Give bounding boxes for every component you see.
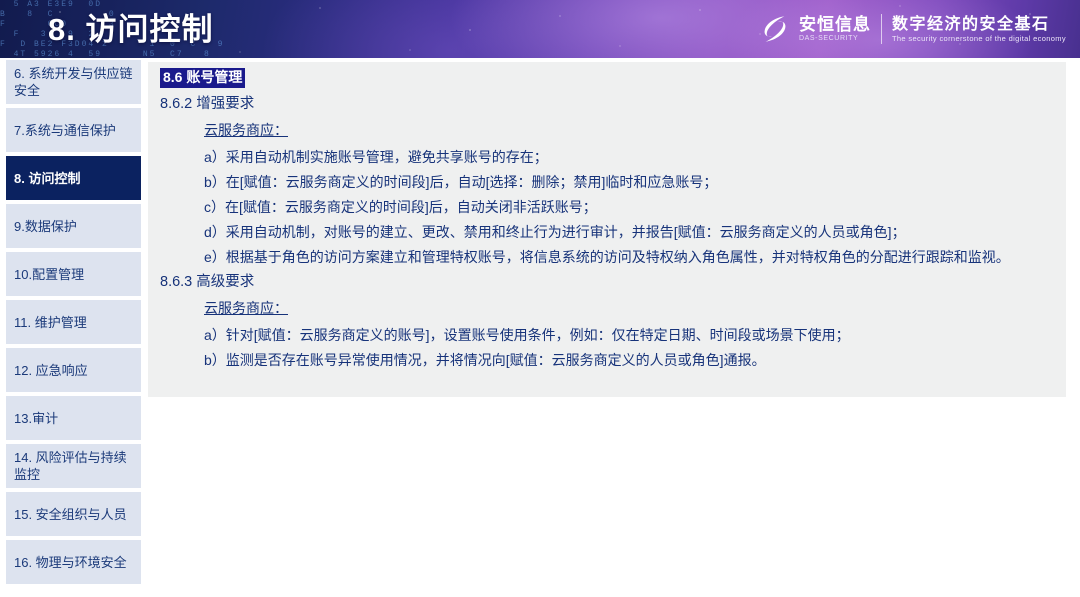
requirement-item: a）针对[赋值：云服务商定义的账号]，设置账号使用条件，例如：仅在特定日期、时间… bbox=[204, 325, 1050, 346]
sidebar-item-15[interactable]: 15. 安全组织与人员 bbox=[6, 492, 141, 536]
sidebar-item-label: 16. 物理与环境安全 bbox=[14, 554, 127, 571]
sidebar-item-16[interactable]: 16. 物理与环境安全 bbox=[6, 540, 141, 584]
sidebar-item-label: 9.数据保护 bbox=[14, 218, 77, 235]
sidebar-item-label: 14. 风险评估与持续监控 bbox=[14, 449, 133, 483]
brand-tagline: 数字经济的安全基石 The security cornerstone of th… bbox=[892, 15, 1066, 44]
sidebar-item-label: 7.系统与通信保护 bbox=[14, 122, 116, 139]
sidebar-item-label: 8. 访问控制 bbox=[14, 170, 80, 187]
sidebar-item-9[interactable]: 9.数据保护 bbox=[6, 204, 141, 248]
requirement-item: c）在[赋值：云服务商定义的时间段]后，自动关闭非活跃账号； bbox=[204, 197, 1020, 218]
section-heading: 8.6.3 高级要求 bbox=[160, 272, 1058, 292]
requirement-item: a）采用自动机制实施账号管理，避免共享账号的存在； bbox=[204, 147, 1020, 168]
section-lead: 云服务商应： bbox=[204, 120, 288, 140]
sidebar-item-7[interactable]: 7.系统与通信保护 bbox=[6, 108, 141, 152]
sidebar-item-label: 13.审计 bbox=[14, 410, 58, 427]
sidebar-nav[interactable]: 6. 系统开发与供应链安全7.系统与通信保护8. 访问控制9.数据保护10.配置… bbox=[6, 60, 141, 588]
section-lead-row: 云服务商应： bbox=[156, 295, 1058, 321]
sidebar-item-label: 12. 应急响应 bbox=[14, 362, 88, 379]
requirement-item: b）监测是否存在账号异常使用情况，并将情况向[赋值：云服务商定义的人员或角色]通… bbox=[204, 350, 1020, 371]
sidebar-item-label: 15. 安全组织与人员 bbox=[14, 506, 127, 523]
section-list: 8.6.2 增强要求云服务商应：a）采用自动机制实施账号管理，避免共享账号的存在… bbox=[156, 94, 1058, 371]
section-lead-row: 云服务商应： bbox=[156, 117, 1058, 143]
brand-company-en: DAS-SECURITY bbox=[799, 34, 871, 43]
brand-logo: 安恒信息 DAS-SECURITY 数字经济的安全基石 The security… bbox=[758, 7, 1066, 51]
sidebar-item-10[interactable]: 10.配置管理 bbox=[6, 252, 141, 296]
section-title: 8.6 账号管理 bbox=[160, 68, 245, 88]
sidebar-item-8[interactable]: 8. 访问控制 bbox=[6, 156, 141, 200]
sidebar-item-label: 10.配置管理 bbox=[14, 266, 84, 283]
sidebar-item-label: 11. 维护管理 bbox=[14, 314, 87, 331]
section-lead: 云服务商应： bbox=[204, 298, 288, 318]
requirement-item: e）根据基于角色的访问方案建立和管理特权账号，将信息系统的访问及特权纳入角色属性… bbox=[204, 247, 1050, 268]
section-heading: 8.6.2 增强要求 bbox=[160, 94, 1058, 114]
sidebar-item-14[interactable]: 14. 风险评估与持续监控 bbox=[6, 444, 141, 488]
header-banner: 5 A3 E3E9 0D B 8 C 0 F CC0 3 F 3 9 2 7 F… bbox=[0, 0, 1080, 58]
sidebar-item-13[interactable]: 13.审计 bbox=[6, 396, 141, 440]
das-security-swoosh-icon bbox=[758, 12, 792, 46]
sidebar-item-label: 6. 系统开发与供应链安全 bbox=[14, 65, 133, 99]
requirement-item: b）在[赋值：云服务商定义的时间段]后，自动[选择：删除；禁用]临时和应急账号； bbox=[204, 172, 1020, 193]
brand-divider bbox=[881, 14, 882, 44]
brand-tagline-cn: 数字经济的安全基石 bbox=[892, 15, 1066, 34]
page-title: 8. 访问控制 bbox=[48, 4, 213, 49]
sidebar-item-6[interactable]: 6. 系统开发与供应链安全 bbox=[6, 60, 141, 104]
brand-company: 安恒信息 DAS-SECURITY bbox=[799, 15, 871, 43]
brand-company-cn: 安恒信息 bbox=[799, 15, 871, 34]
requirement-item: d）采用自动机制，对账号的建立、更改、禁用和终止行为进行审计，并报告[赋值：云服… bbox=[204, 222, 1050, 243]
brand-tagline-en: The security cornerstone of the digital … bbox=[892, 34, 1066, 44]
sidebar-item-11[interactable]: 11. 维护管理 bbox=[6, 300, 141, 344]
content-panel: 8.6 账号管理 8.6.2 增强要求云服务商应：a）采用自动机制实施账号管理，… bbox=[148, 62, 1066, 397]
sidebar-item-12[interactable]: 12. 应急响应 bbox=[6, 348, 141, 392]
